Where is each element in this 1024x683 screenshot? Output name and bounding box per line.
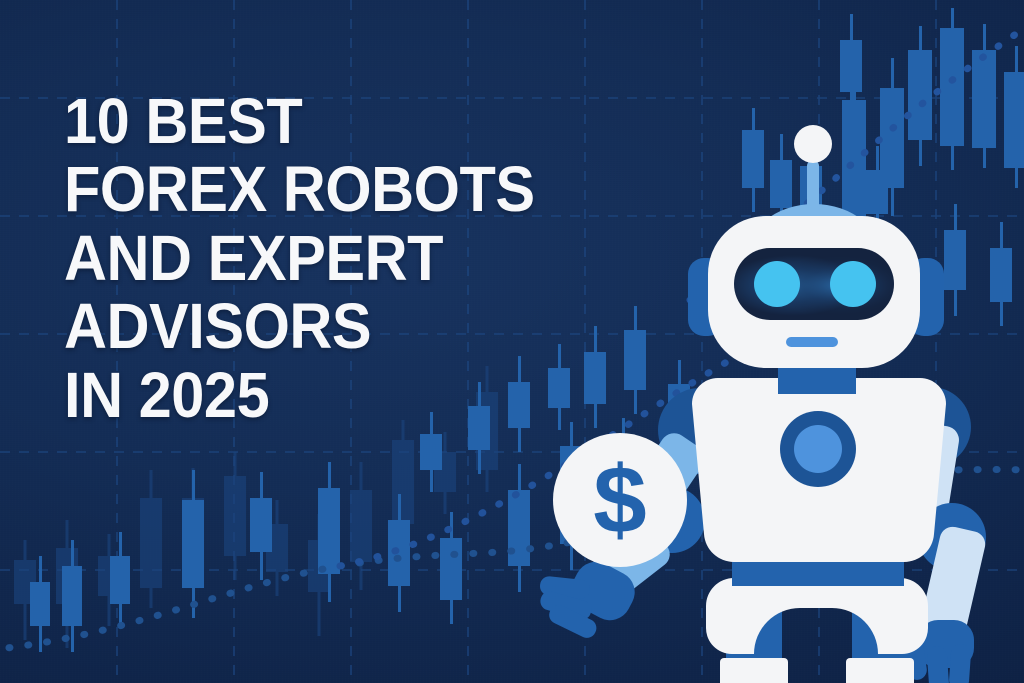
- robot-mouth: [786, 337, 838, 347]
- robot-foot-left: [720, 658, 788, 683]
- headline-line-4: ADVISORS: [64, 296, 535, 357]
- headline-line-3: AND EXPERT: [64, 228, 535, 289]
- dollar-coin: $: [553, 433, 687, 567]
- page-title: 10 BEST FOREX ROBOTS AND EXPERT ADVISORS…: [64, 91, 570, 433]
- robot-eye-left: [754, 261, 800, 307]
- robot-chest-button: [794, 425, 842, 473]
- headline-line-2: FOREX ROBOTS: [64, 159, 535, 220]
- coin-dollar-symbol: $: [593, 447, 646, 554]
- headline-line-1: 10 BEST: [64, 91, 535, 152]
- antenna-ball: [794, 125, 832, 163]
- headline-line-5: IN 2025: [64, 365, 535, 426]
- robot-foot-right: [846, 658, 914, 683]
- robot-hips: [706, 578, 928, 654]
- robot-eye-right: [830, 261, 876, 307]
- banner-canvas: $: [0, 0, 1024, 683]
